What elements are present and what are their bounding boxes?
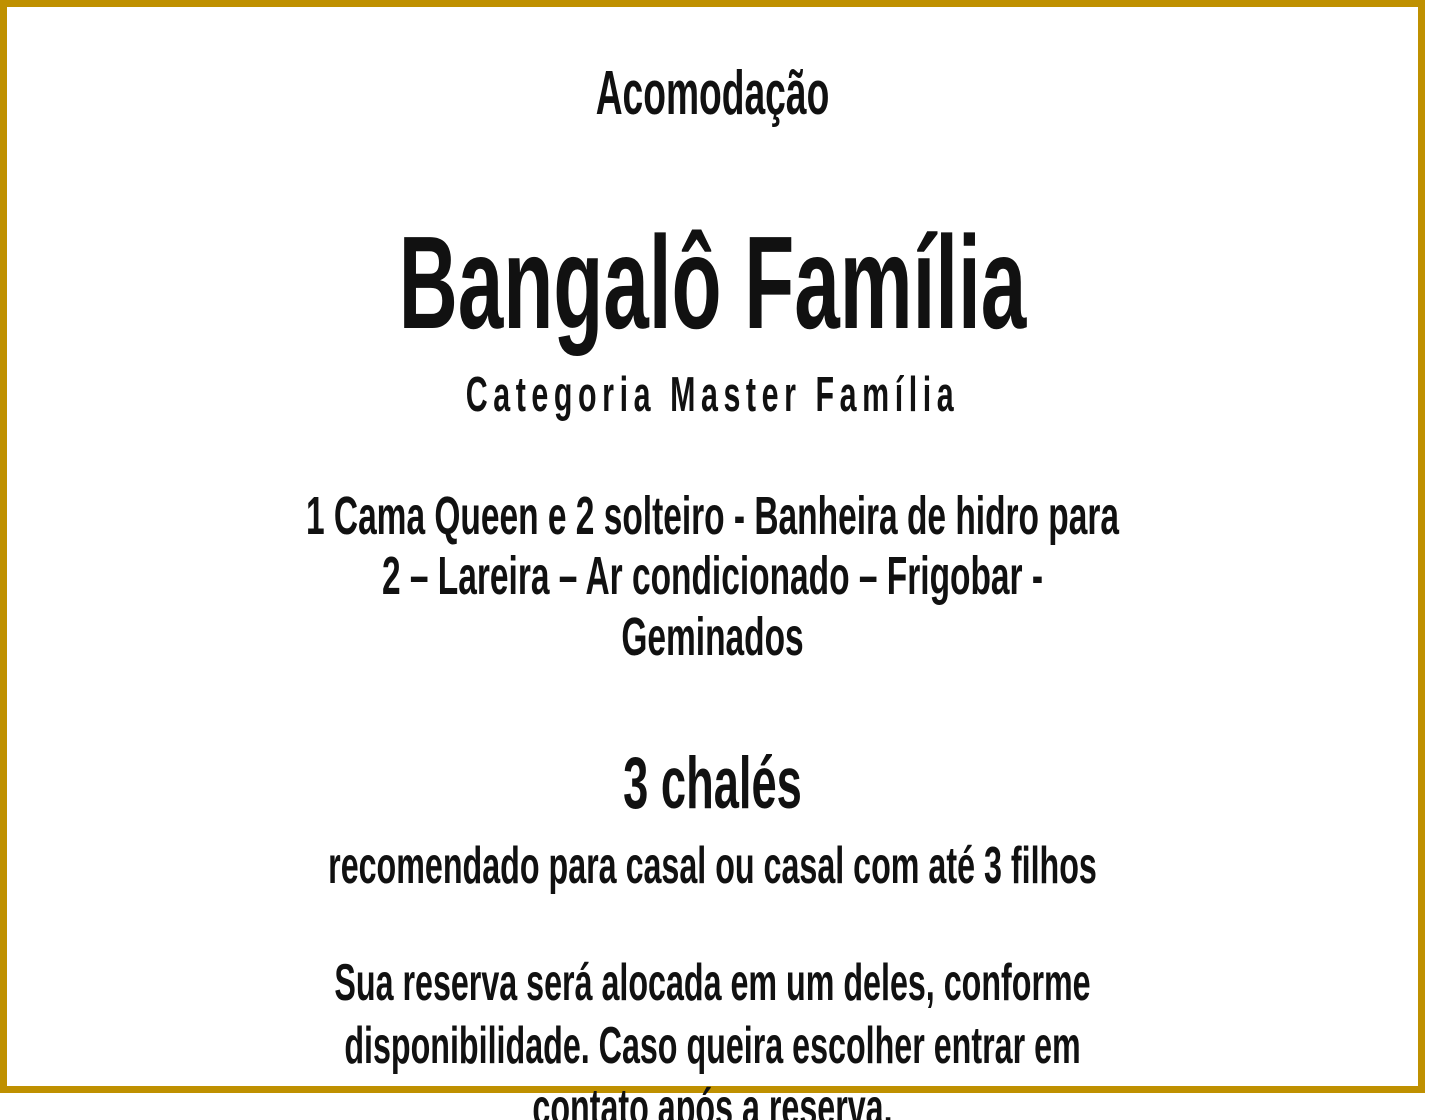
- amenities-list: 1 Cama Queen e 2 solteiro - Banheira de …: [294, 486, 1132, 667]
- card-content: Acomodação Bangalô Família Categoria Mas…: [7, 7, 1418, 1093]
- page-title: Bangalô Família: [294, 217, 1132, 349]
- occupancy-recommendation: recomendado para casal ou casal com até …: [294, 840, 1132, 892]
- section-eyebrow: Acomodação: [307, 63, 1118, 125]
- reservation-note: Sua reserva será alocada em um deles, co…: [294, 952, 1132, 1120]
- accommodation-card: Acomodação Bangalô Família Categoria Mas…: [0, 0, 1445, 1120]
- chalet-count: 3 chalés: [294, 747, 1132, 820]
- category-subtitle: Categoria Master Família: [294, 371, 1132, 420]
